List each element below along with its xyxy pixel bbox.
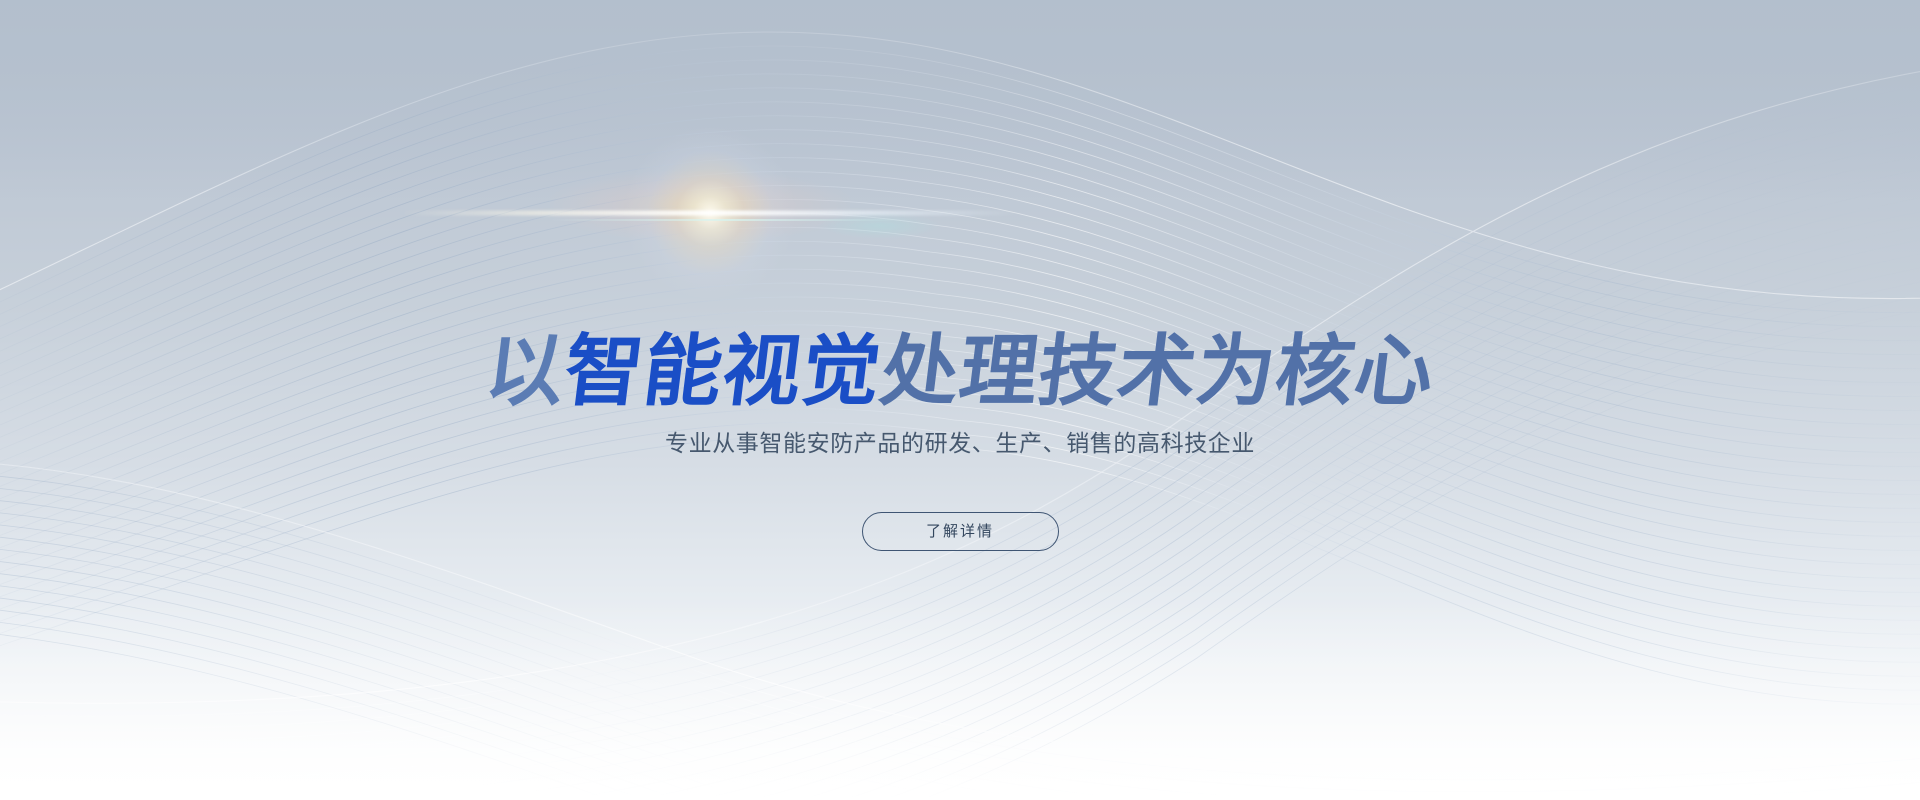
- hero-banner: 以智能视觉处理技术为核心 专业从事智能安防产品的研发、生产、销售的高科技企业 了…: [0, 0, 1920, 800]
- page-title: 以智能视觉处理技术为核心: [0, 333, 1920, 411]
- headline-segment-1: 以: [481, 333, 570, 411]
- headline-segment-2: 智能视觉: [560, 333, 886, 411]
- hero-content: 以智能视觉处理技术为核心 专业从事智能安防产品的研发、生产、销售的高科技企业 了…: [0, 0, 1920, 800]
- headline-segment-3: 处理技术为核心: [876, 333, 1439, 411]
- learn-more-button[interactable]: 了解详情: [862, 512, 1059, 551]
- page-subtitle: 专业从事智能安防产品的研发、生产、销售的高科技企业: [0, 428, 1920, 460]
- cta-container: 了解详情: [0, 512, 1920, 551]
